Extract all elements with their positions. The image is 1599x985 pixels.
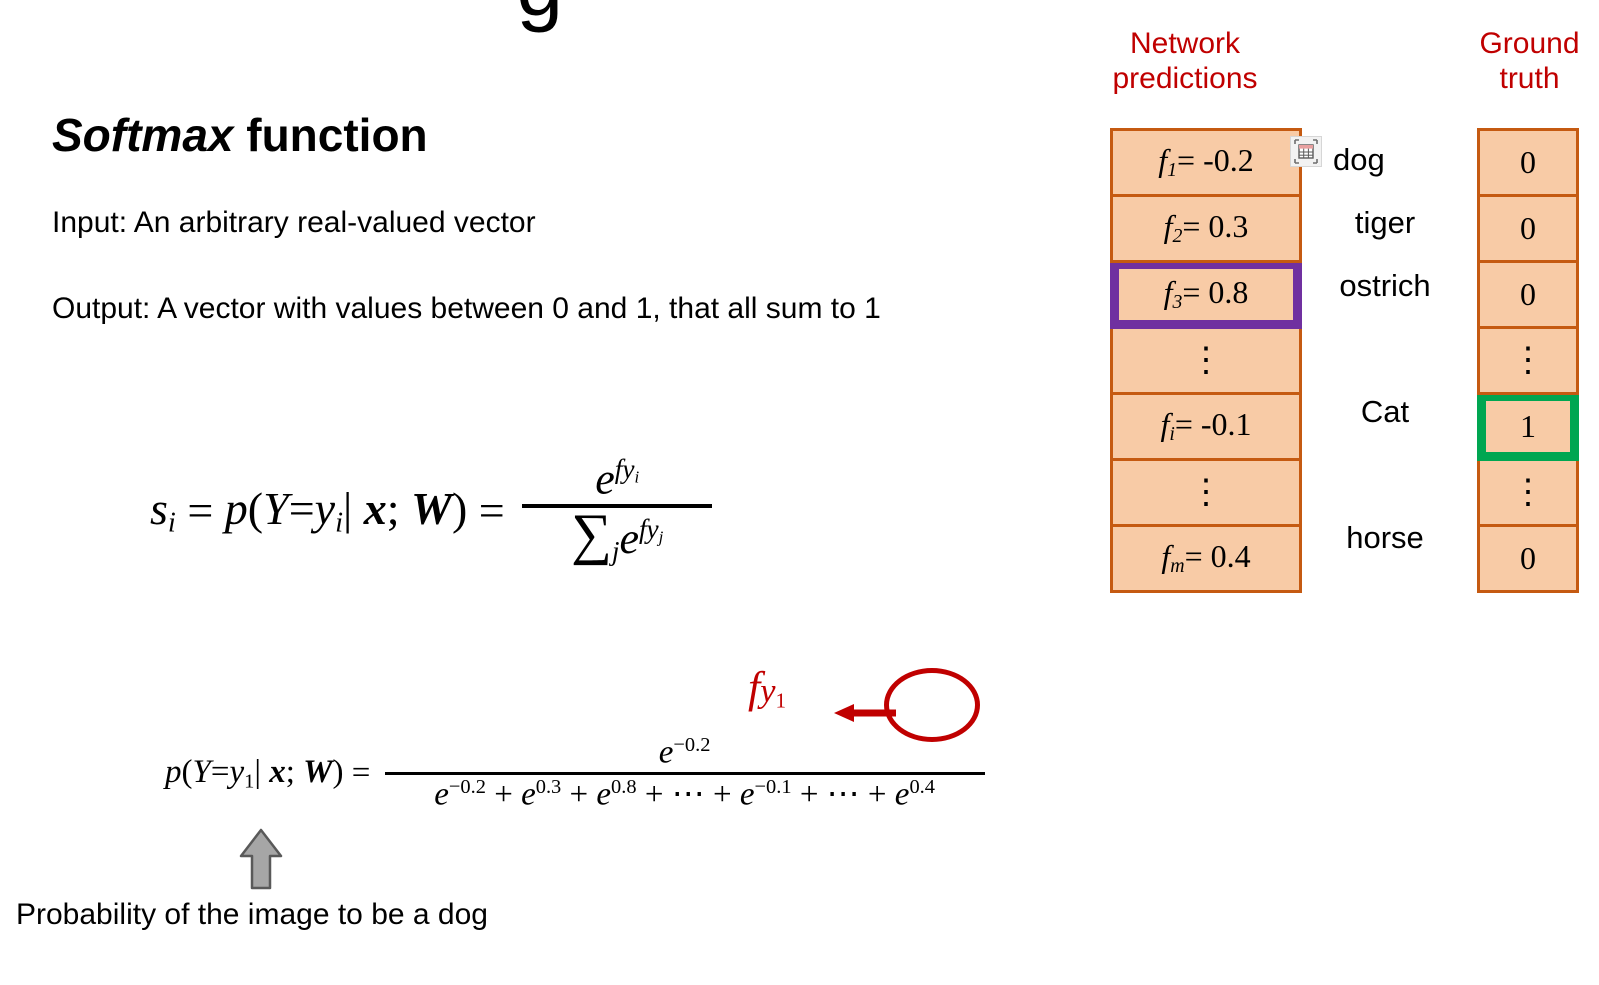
ground-truth-cell[interactable]: ⋮ bbox=[1479, 460, 1578, 526]
page-title: Softmax function bbox=[52, 108, 428, 162]
up-arrow-icon bbox=[238, 828, 284, 890]
bottom-eq-lhs: p(Y=y1| x; W) bbox=[165, 754, 343, 793]
prediction-f-subscript: 2 bbox=[1172, 226, 1182, 248]
annotation-f: f bbox=[748, 663, 760, 712]
prediction-f-subscript: m bbox=[1170, 556, 1184, 578]
network-predictions-table: f1= -0.2f2= 0.3f3= 0.8⋮fi= -0.1⋮fm= 0.4 bbox=[1110, 128, 1302, 593]
table-row: f3= 0.8 bbox=[1112, 262, 1301, 328]
table-row: ⋮ bbox=[1479, 328, 1578, 394]
ground-truth-header-line1: Ground bbox=[1462, 26, 1597, 61]
bottom-eq-denominator: e−0.2 + e0.3 + e0.8 + ⋯ + e−0.1 + ⋯ + e0… bbox=[420, 775, 949, 812]
class-label-column: dogtigerostrichCathorse bbox=[1295, 128, 1475, 569]
main-eq-numerator: efyi bbox=[581, 455, 653, 504]
main-eq-denominator: ∑jefyj bbox=[557, 508, 677, 566]
table-row: f1= -0.2 bbox=[1112, 130, 1301, 196]
insert-table-icon[interactable] bbox=[1290, 136, 1322, 167]
table-row: 0 bbox=[1479, 526, 1578, 592]
prediction-value: = -0.2 bbox=[1177, 142, 1254, 178]
bottom-eq-fraction: e−0.2 e−0.2 + e0.3 + e0.8 + ⋯ + e−0.1 + … bbox=[385, 735, 985, 812]
ground-truth-header: Ground truth bbox=[1462, 26, 1597, 97]
ground-truth-cell[interactable]: 0 bbox=[1479, 196, 1578, 262]
softmax-dog-equation: p(Y=y1| x; W) = e−0.2 e−0.2 + e0.3 + e0.… bbox=[165, 735, 991, 812]
summation-symbol: ∑ bbox=[571, 503, 612, 566]
vertical-ellipsis: ⋮ bbox=[1189, 350, 1223, 371]
class-label bbox=[1295, 317, 1475, 380]
prediction-cell[interactable]: ⋮ bbox=[1112, 328, 1301, 394]
class-label: dog bbox=[1295, 128, 1475, 191]
page-title-emphasis: Softmax bbox=[52, 109, 233, 161]
table-row: 0 bbox=[1479, 262, 1578, 328]
table-row: f2= 0.3 bbox=[1112, 196, 1301, 262]
prediction-cell[interactable]: f1= -0.2 bbox=[1112, 130, 1301, 196]
ground-truth-cell[interactable]: ⋮ bbox=[1479, 328, 1578, 394]
pred-table-body: f1= -0.2f2= 0.3f3= 0.8⋮fi= -0.1⋮fm= 0.4 bbox=[1112, 130, 1301, 592]
prediction-f-symbol: f bbox=[1161, 538, 1170, 574]
main-eq-equals-2: = bbox=[467, 484, 516, 537]
vertical-ellipsis: ⋮ bbox=[1511, 350, 1545, 371]
prediction-f-symbol: f bbox=[1158, 142, 1167, 178]
prediction-f-subscript: 1 bbox=[1167, 160, 1177, 182]
vertical-ellipsis: ⋮ bbox=[1189, 482, 1223, 503]
annotation-y: y bbox=[760, 672, 775, 710]
main-eq-equals-1: = bbox=[176, 484, 225, 537]
network-predictions-header-line2: predictions bbox=[1090, 61, 1280, 96]
class-label: tiger bbox=[1295, 191, 1475, 254]
caption-text: Probability of the image to be a dog bbox=[16, 895, 488, 935]
table-row: fi= -0.1 bbox=[1112, 394, 1301, 460]
ellipse-highlight-icon bbox=[884, 668, 980, 742]
main-eq-fraction: efyi ∑jefyj bbox=[522, 455, 712, 566]
annotation-sub: 1 bbox=[775, 688, 786, 712]
clipped-slide-heading: g bbox=[0, 0, 1080, 35]
table-row: ⋮ bbox=[1479, 460, 1578, 526]
prediction-f-symbol: f bbox=[1160, 406, 1169, 442]
softmax-main-equation: si = p(Y=yi| x; W) = efyi ∑jefyj bbox=[150, 455, 718, 566]
network-predictions-header-line1: Network bbox=[1090, 26, 1280, 61]
class-label: horse bbox=[1295, 506, 1475, 569]
prediction-cell[interactable]: fm= 0.4 bbox=[1112, 526, 1301, 592]
table-row: 1 bbox=[1479, 394, 1578, 460]
ground-truth-cell[interactable]: 1 bbox=[1479, 394, 1578, 460]
fy1-annotation-label: fy1 bbox=[748, 662, 786, 713]
table-row: ⋮ bbox=[1112, 328, 1301, 394]
table-row: 0 bbox=[1479, 130, 1578, 196]
class-label: Cat bbox=[1295, 380, 1475, 443]
ground-truth-table: 000⋮1⋮0 bbox=[1477, 128, 1579, 593]
prediction-value: = 0.4 bbox=[1185, 538, 1251, 574]
class-label: ostrich bbox=[1295, 254, 1475, 317]
input-description: Input: An arbitrary real-valued vector bbox=[52, 203, 536, 243]
table-row: ⋮ bbox=[1112, 460, 1301, 526]
prediction-value: = 0.8 bbox=[1182, 274, 1248, 310]
prediction-cell[interactable]: fi= -0.1 bbox=[1112, 394, 1301, 460]
bottom-eq-equals: = bbox=[343, 755, 378, 792]
main-eq-lhs: si bbox=[150, 482, 176, 539]
prediction-value: = -0.1 bbox=[1175, 406, 1252, 442]
ground-truth-cell[interactable]: 0 bbox=[1479, 526, 1578, 592]
table-row: 0 bbox=[1479, 196, 1578, 262]
prediction-cell[interactable]: f3= 0.8 bbox=[1112, 262, 1301, 328]
bottom-eq-numerator: e−0.2 bbox=[645, 735, 725, 772]
ground-truth-cell[interactable]: 0 bbox=[1479, 130, 1578, 196]
network-predictions-header: Network predictions bbox=[1090, 26, 1280, 97]
prediction-cell[interactable]: f2= 0.3 bbox=[1112, 196, 1301, 262]
table-row: fm= 0.4 bbox=[1112, 526, 1301, 592]
ground-truth-header-line2: truth bbox=[1462, 61, 1597, 96]
prediction-f-subscript: 3 bbox=[1172, 292, 1182, 314]
truth-table-body: 000⋮1⋮0 bbox=[1479, 130, 1578, 592]
prediction-cell[interactable]: ⋮ bbox=[1112, 460, 1301, 526]
vertical-ellipsis: ⋮ bbox=[1511, 482, 1545, 503]
page-title-rest: function bbox=[233, 109, 427, 161]
main-eq-prob-expr: p(Y=yi| x; W) bbox=[225, 482, 467, 539]
prediction-value: = 0.3 bbox=[1182, 208, 1248, 244]
class-label bbox=[1295, 443, 1475, 506]
output-description: Output: A vector with values between 0 a… bbox=[52, 289, 1052, 329]
ground-truth-cell[interactable]: 0 bbox=[1479, 262, 1578, 328]
